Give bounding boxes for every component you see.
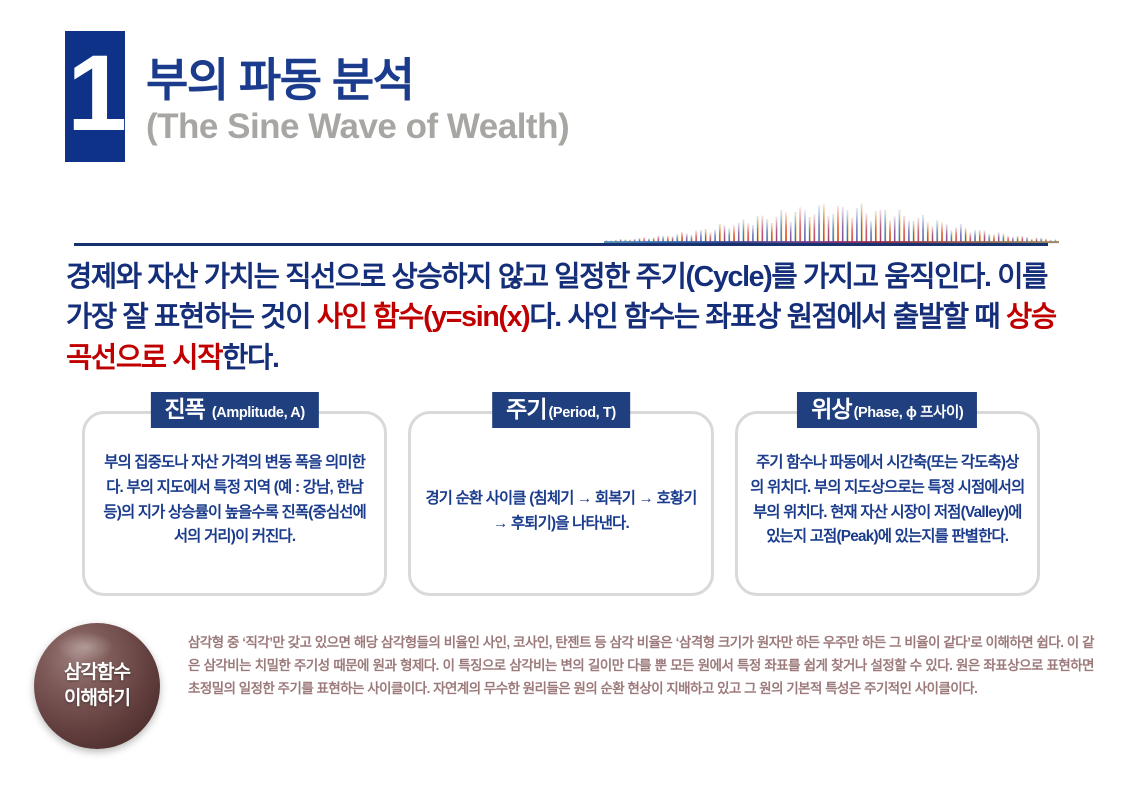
lead-highlight-1: 사인 함수(y=sin(x) — [317, 301, 530, 333]
card-period-title-en: (Period, T) — [549, 406, 616, 421]
card-period-body: 경기 순환 사이클 (침체기 → 회복기 → 호황기 → 후퇴기)을 나타낸다. — [423, 487, 698, 537]
trigonometry-badge-line2: 이해하기 — [64, 686, 130, 712]
lead-text-4: 한다. — [222, 342, 278, 374]
lead-text-2: 다. 사인 함수는 좌표상 원점에서 출발할 때 — [529, 301, 1006, 333]
section-number-badge: 1 — [65, 31, 125, 162]
lead-paragraph: 경제와 자산 가치는 직선으로 상승하지 않고 일정한 주기(Cycle)를 가… — [66, 257, 1066, 378]
slide-header: 1 부의 파동 분석 (The Sine Wave of Wealth) — [65, 31, 569, 162]
page-subtitle: (The Sine Wave of Wealth) — [146, 107, 569, 147]
footnote-text: 삼각형 중 ‘직각’만 갖고 있으면 해당 삼각형들의 비율인 사인, 코사인,… — [188, 623, 1094, 749]
card-period-header: 주기 (Period, T) — [492, 392, 630, 428]
section-number: 1 — [67, 39, 123, 147]
card-amplitude: 진폭 (Amplitude, A) 부의 집중도나 자산 가격의 변동 폭을 의… — [82, 411, 387, 596]
trigonometry-badge: 삼각함수 이해하기 — [34, 623, 160, 749]
card-phase-title-ko: 위상 — [811, 398, 851, 421]
card-amplitude-title-ko: 진폭 — [165, 398, 205, 421]
page-title: 부의 파동 분석 — [146, 56, 569, 104]
card-period-title-ko: 주기 — [506, 398, 546, 421]
card-phase-header: 위상 (Phase, ɸ 프사이) — [797, 392, 977, 428]
equalizer-wave-bars-icon — [604, 196, 1059, 246]
slide-root: 1 부의 파동 분석 (The Sine Wave of Wealth) — [0, 0, 1122, 793]
card-phase-body: 주기 함수나 파동에서 시간축(또는 각도축)상의 위치다. 부의 지도상으로는… — [750, 451, 1025, 550]
equalizer-svg — [604, 196, 1059, 246]
card-amplitude-title-en: (Amplitude, A) — [212, 406, 305, 421]
card-phase-title-en: (Phase, ɸ 프사이) — [854, 406, 964, 421]
card-amplitude-header: 진폭 (Amplitude, A) — [151, 392, 319, 428]
header-divider — [74, 243, 1048, 246]
title-block: 부의 파동 분석 (The Sine Wave of Wealth) — [146, 31, 569, 148]
trigonometry-badge-line1: 삼각함수 — [64, 660, 130, 686]
card-amplitude-body: 부의 집중도나 자산 가격의 변동 폭을 의미한다. 부의 지도에서 특정 지역… — [97, 451, 372, 550]
card-period: 주기 (Period, T) 경기 순환 사이클 (침체기 → 회복기 → 호황… — [408, 411, 713, 596]
card-phase: 위상 (Phase, ɸ 프사이) 주기 함수나 파동에서 시간축(또는 각도축… — [735, 411, 1040, 596]
concept-cards: 진폭 (Amplitude, A) 부의 집중도나 자산 가격의 변동 폭을 의… — [82, 411, 1040, 596]
footnote-block: 삼각함수 이해하기 삼각형 중 ‘직각’만 갖고 있으면 해당 삼각형들의 비율… — [34, 623, 1094, 749]
